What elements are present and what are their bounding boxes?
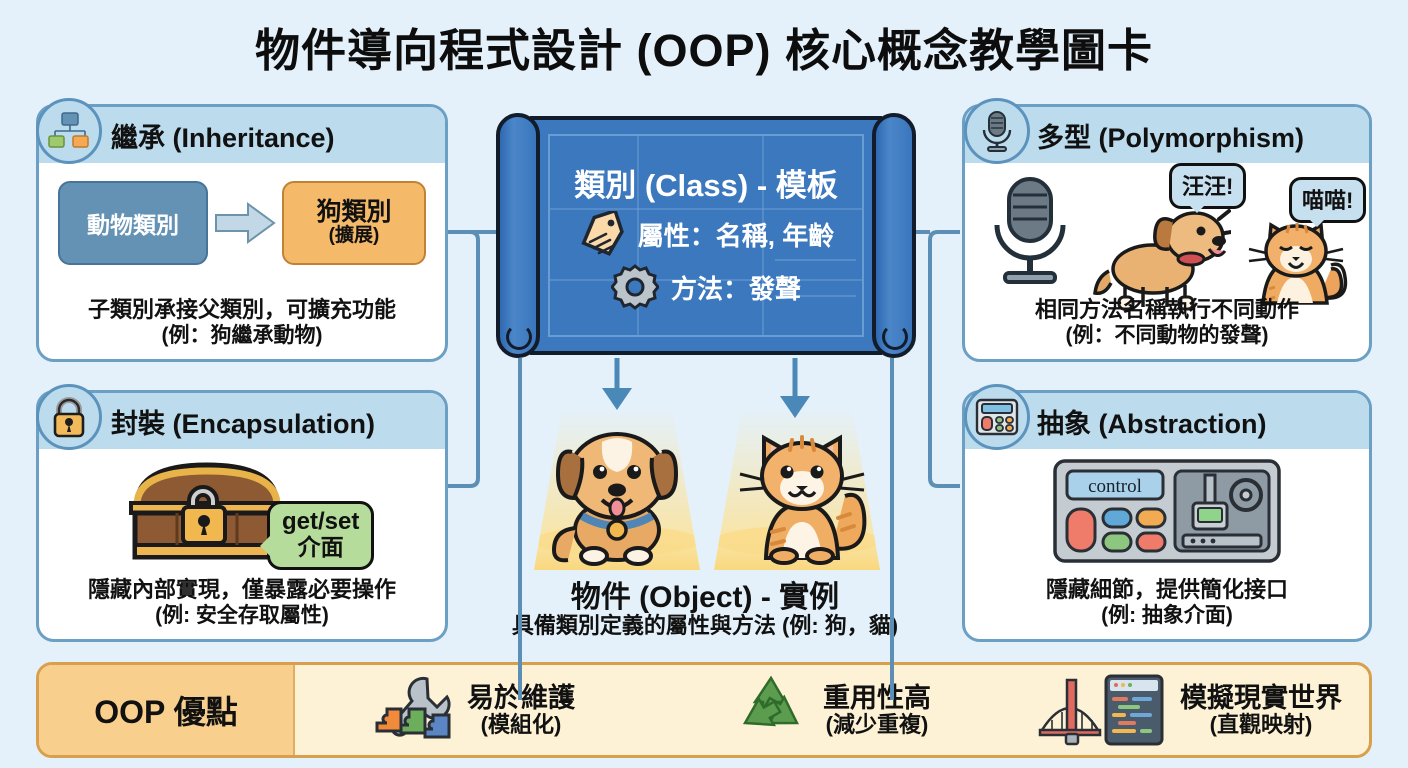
microphone-icon (964, 98, 1030, 164)
class-methods-text: 方法：發聲 (671, 269, 801, 306)
scroll-roll-right (872, 113, 916, 358)
getset-line1: get/set (282, 509, 359, 535)
gear-icon (611, 263, 659, 311)
dog-speech-text: 汪汪! (1182, 174, 1233, 199)
cat-speech-bubble: 喵喵! (1289, 177, 1366, 223)
hierarchy-icon (36, 98, 102, 164)
calculator-icon (964, 384, 1030, 450)
getset-line2: 介面 (282, 535, 359, 560)
infographic-canvas: 物件導向程式設計 (OOP) 核心概念教學圖卡 繼承 (Inheritance)… (0, 0, 1408, 768)
class-attributes-row: 屬性：名稱, 年齡 (578, 211, 834, 257)
tag-icon (578, 211, 626, 257)
lock-icon (36, 384, 102, 450)
scroll-roll-left (496, 113, 540, 358)
class-scroll: 類別 (Class) - 模板 屬性：名稱, 年齡 (496, 113, 916, 358)
cat-speech-text: 喵喵! (1302, 188, 1353, 213)
class-title: 類別 (Class) - 模板 (574, 160, 838, 205)
arrow-to-dog (602, 388, 632, 410)
class-methods-row: 方法：發聲 (611, 263, 801, 311)
getset-callout: get/set 介面 (267, 501, 374, 570)
class-attributes-text: 屬性：名稱, 年齡 (638, 216, 834, 253)
dog-speech-bubble: 汪汪! (1169, 163, 1246, 209)
arrow-to-cat (780, 396, 810, 418)
class-scroll-content: 類別 (Class) - 模板 屬性：名稱, 年齡 (530, 116, 882, 355)
